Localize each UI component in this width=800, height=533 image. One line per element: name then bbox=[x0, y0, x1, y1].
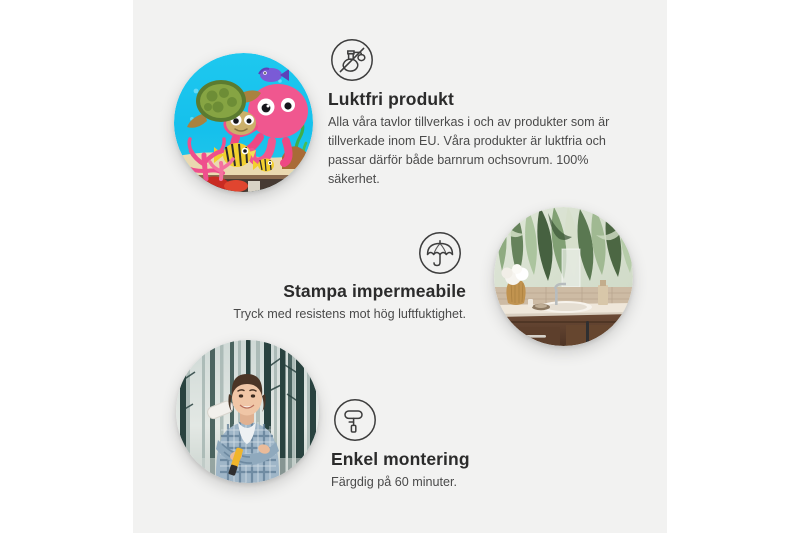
feature-title: Enkel montering bbox=[331, 449, 591, 470]
feature-waterproof: Stampa impermeabile Tryck med resistens … bbox=[218, 231, 466, 324]
feature-body: Alla våra tavlor tillverkas i och av pro… bbox=[328, 113, 628, 190]
paint-roller-icon bbox=[333, 398, 377, 442]
feature-title: Luktfri produkt bbox=[328, 89, 628, 110]
umbrella-icon bbox=[418, 231, 462, 275]
photo-underwater-cartoon-scene bbox=[174, 53, 313, 192]
feature-odourless: Luktfri produkt Alla våra tavlor tillver… bbox=[328, 38, 628, 190]
photo-woman-with-paint-roller-forest bbox=[176, 340, 319, 483]
feature-title: Stampa impermeabile bbox=[218, 281, 466, 302]
photo-bathroom-tropical-wallpaper bbox=[494, 207, 633, 346]
promo-banner: Luktfri produkt Alla våra tavlor tillver… bbox=[0, 0, 800, 533]
feature-mounting: Enkel montering Färgdig på 60 minuter. bbox=[331, 398, 591, 492]
feature-body: Färgdig på 60 minuter. bbox=[331, 473, 591, 492]
no-odour-spray-bottle-icon bbox=[330, 38, 374, 82]
feature-body: Tryck med resistens mot hög luftfuktighe… bbox=[218, 305, 466, 324]
